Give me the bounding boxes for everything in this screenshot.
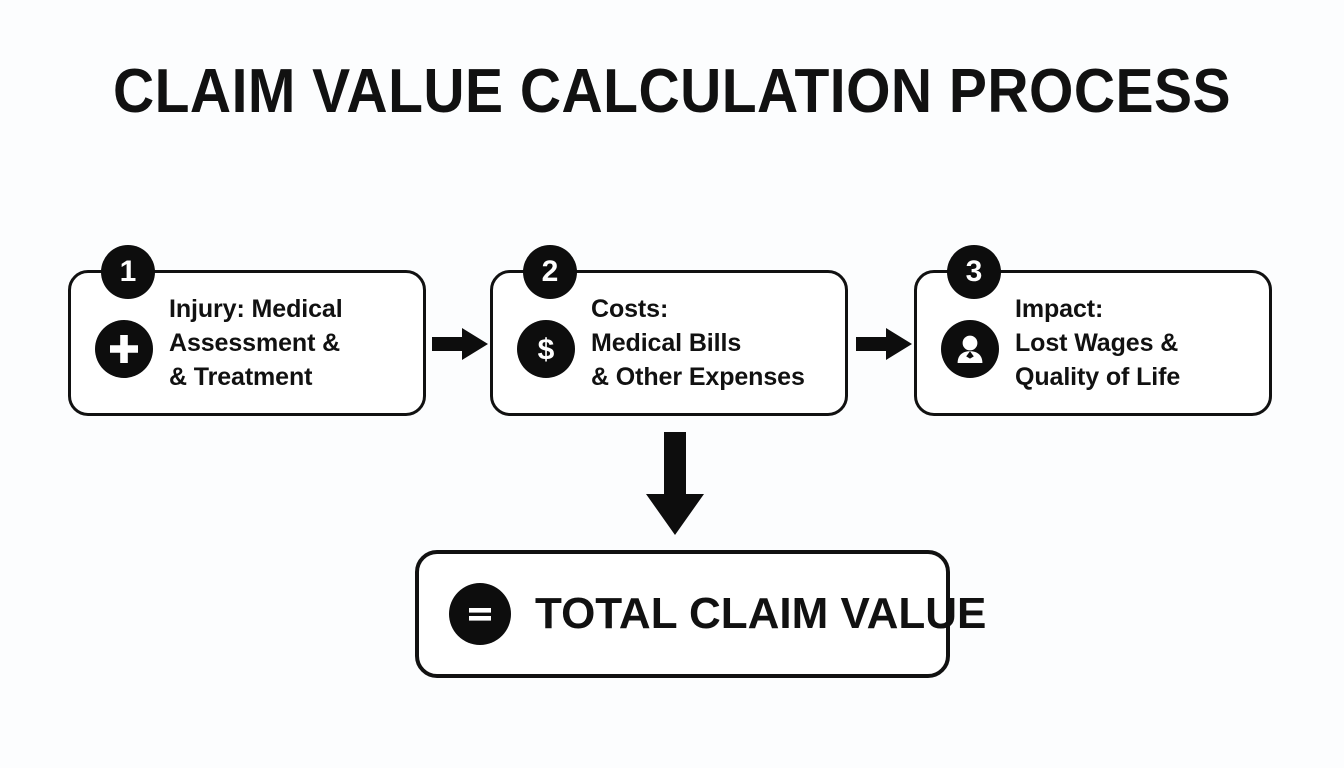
total-claim-value-box[interactable]: TOTAL CLAIM VALUE: [415, 550, 950, 678]
dollar-sign-icon: $: [517, 320, 575, 378]
total-claim-value-label: TOTAL CLAIM VALUE: [535, 590, 986, 638]
arrow-down-icon: [645, 432, 705, 536]
step-badge-3: 3: [947, 245, 1001, 299]
page-title: CLAIM VALUE CALCULATION PROCESS: [54, 56, 1290, 128]
step-text-2-line-2: Medical Bills: [591, 326, 805, 360]
step-card-1[interactable]: 1 Injury: Medical Assessment & & Treatme…: [68, 270, 426, 416]
step-badge-2: 2: [523, 245, 577, 299]
step-text-1-line-1: Injury: Medical: [169, 292, 343, 326]
step-text-2: Costs: Medical Bills & Other Expenses: [591, 292, 805, 394]
diagram-canvas: CLAIM VALUE CALCULATION PROCESS 1 Injury…: [0, 0, 1344, 768]
step-text-1-line-3: & Treatment: [169, 360, 343, 394]
step-text-1-line-2: Assessment &: [169, 326, 343, 360]
arrow-right-icon-1: [432, 327, 488, 361]
step-text-3-line-1: Impact:: [1015, 292, 1180, 326]
step-text-1: Injury: Medical Assessment & & Treatment: [169, 292, 343, 394]
step-card-2[interactable]: 2 $ Costs: Medical Bills & Other Expense…: [490, 270, 848, 416]
arrow-right-icon-2: [856, 327, 912, 361]
step-text-3: Impact: Lost Wages & Quality of Life: [1015, 292, 1180, 394]
equals-sign-icon: [449, 583, 511, 645]
step-text-3-line-3: Quality of Life: [1015, 360, 1180, 394]
step-text-2-line-3: & Other Expenses: [591, 360, 805, 394]
step-text-2-line-1: Costs:: [591, 292, 805, 326]
step-text-3-line-2: Lost Wages &: [1015, 326, 1180, 360]
step-card-3[interactable]: 3 Impact: Lost Wages & Quality of Life: [914, 270, 1272, 416]
svg-text:$: $: [538, 334, 555, 367]
person-icon: [941, 320, 999, 378]
medical-cross-icon: [95, 320, 153, 378]
step-badge-1: 1: [101, 245, 155, 299]
